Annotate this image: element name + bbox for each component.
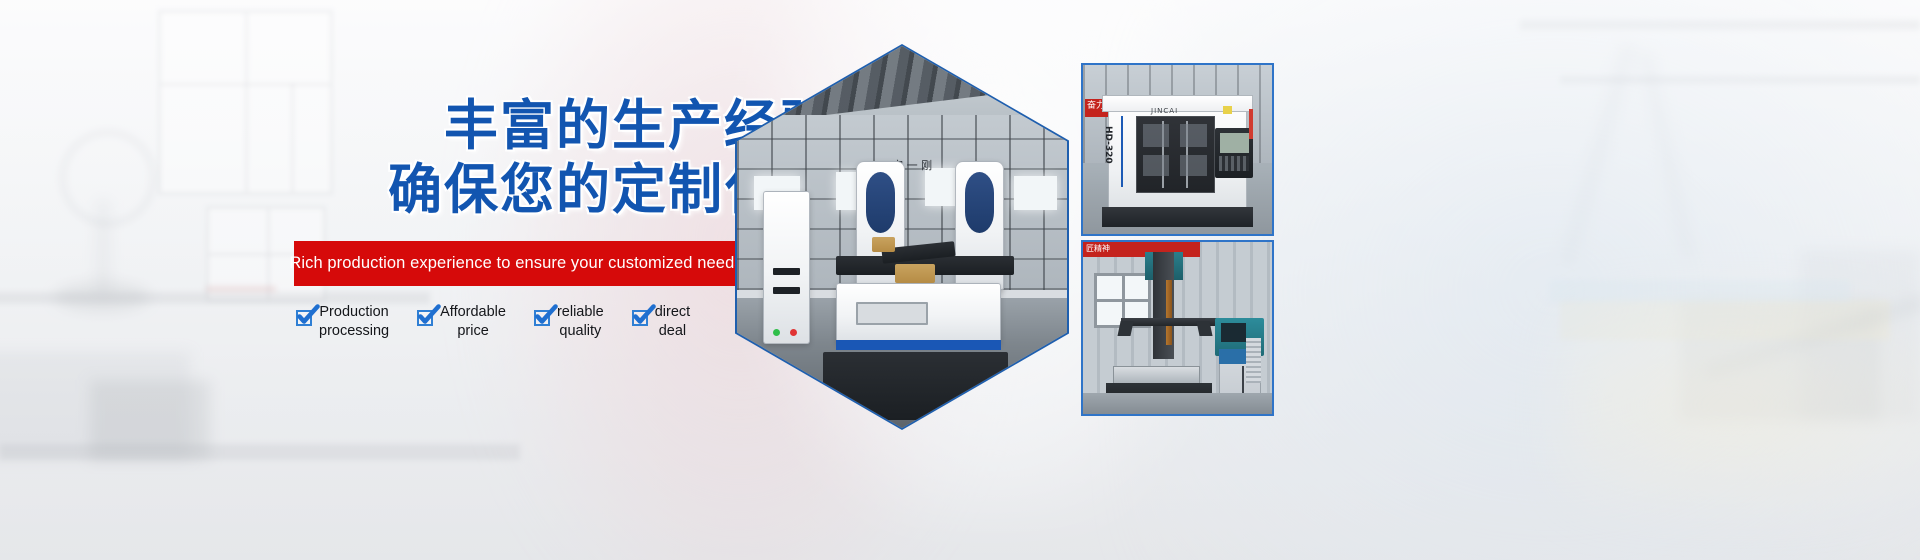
workshop-pallet-1	[895, 264, 935, 283]
thumbnail-1-machine-base	[1102, 207, 1253, 227]
feature-list: Production processing Affordable price r…	[296, 302, 718, 340]
machine-slot-2	[773, 287, 799, 295]
thumbnail-2-cabinet-vent	[1246, 338, 1261, 383]
feature-item-direct-deal[interactable]: direct deal	[632, 302, 690, 340]
checkbox-checked-icon[interactable]	[296, 310, 312, 326]
thumbnail-1-machine-door	[1136, 116, 1215, 194]
thumbnail-boring-machine[interactable]: 匠精神	[1081, 240, 1274, 416]
thumbnail-1-door-glass-1	[1143, 124, 1169, 147]
hexagon-photo-inner: 定 一 刚	[737, 46, 1067, 428]
machine-base-foot-1	[849, 413, 872, 428]
feature-label: reliable quality	[557, 302, 604, 340]
thumbnail-1-red-column	[1249, 109, 1253, 139]
thumbnail-1-door-glass-3	[1143, 155, 1169, 176]
feature-item-affordable-price[interactable]: Affordable price	[417, 302, 506, 340]
thumbnail-1-accent-stripe	[1121, 116, 1123, 187]
hexagon-photo: 定 一 刚	[735, 44, 1069, 430]
feature-item-reliable-quality[interactable]: reliable quality	[534, 302, 604, 340]
thumbnail-1-cnc-screen	[1220, 133, 1249, 153]
workshop-window-4	[1014, 176, 1057, 210]
machine-base-plinth	[823, 352, 1008, 421]
machine-blue-stripe	[836, 340, 1001, 350]
thumbnail-1-door-glass-2	[1180, 124, 1206, 147]
thumbnail-1-cnc-keypad	[1219, 156, 1249, 171]
checkbox-checked-icon[interactable]	[534, 310, 550, 326]
subtitle-text: Rich production experience to ensure you…	[289, 254, 742, 273]
machine-base-foot-2	[935, 413, 958, 428]
thumbnail-1-model-label: HD-320	[1103, 126, 1113, 164]
machine-red-button	[790, 329, 797, 336]
thumbnail-2-boring-bar	[1166, 280, 1172, 345]
checkbox-checked-icon[interactable]	[632, 310, 648, 326]
workshop-pallet-2	[872, 237, 895, 252]
promo-banner: 丰富的生产经验 确保您的定制化需求 Rich production experi…	[0, 0, 1920, 560]
feature-item-production-processing[interactable]: Production processing	[296, 302, 389, 340]
machine-window-slot	[856, 302, 929, 325]
feature-label: Affordable price	[440, 302, 506, 340]
machine-blue-panel-center	[866, 172, 896, 233]
feature-label: Production processing	[319, 302, 389, 340]
thumbnail-1-brand-label: JINCAI	[1151, 107, 1178, 115]
thumbnail-1-cnc-panel	[1215, 128, 1253, 179]
thumbnail-2-control-screen	[1221, 323, 1246, 342]
machine-blue-panel-right	[965, 172, 995, 233]
checkbox-checked-icon[interactable]	[417, 310, 433, 326]
machine-slot-1	[773, 268, 799, 276]
thumbnail-1-door-glass-4	[1180, 155, 1206, 176]
thumbnail-2-floor	[1083, 393, 1272, 414]
thumbnail-1-warning-label	[1223, 106, 1232, 114]
workshop-scene: 定 一 刚	[737, 46, 1067, 428]
machine-green-button	[773, 329, 780, 336]
subtitle-bar: Rich production experience to ensure you…	[294, 241, 738, 286]
feature-label: direct deal	[655, 302, 690, 340]
thumbnail-machining-center[interactable]: 奋力 JINCAI HD-320	[1081, 63, 1274, 236]
